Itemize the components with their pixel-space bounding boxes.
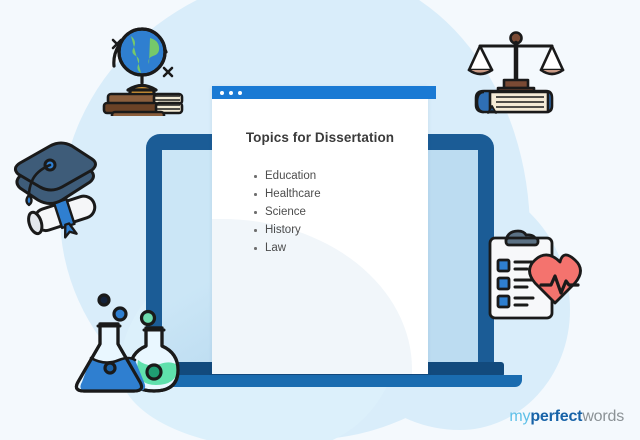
list-item: Education — [253, 167, 321, 185]
topics-list: Education Healthcare Science History Law — [253, 167, 321, 257]
list-item: Healthcare — [253, 185, 321, 203]
document-window[interactable]: Topics for Dissertation Education Health… — [212, 86, 428, 374]
window-dot-maximize-icon[interactable] — [238, 91, 242, 95]
list-item: History — [253, 221, 321, 239]
poster-canvas: Topics for Dissertation Education Health… — [0, 0, 640, 440]
scales-of-justice-icon — [462, 18, 570, 123]
logo-part-my: my — [509, 408, 530, 425]
medical-clipboard-heart-icon — [484, 226, 590, 331]
logo-part-perfect: perfect — [530, 408, 582, 425]
list-item: Science — [253, 203, 321, 221]
list-item: Law — [253, 239, 321, 257]
science-flasks-icon — [66, 284, 190, 407]
globe-on-books-icon — [88, 12, 192, 121]
window-dot-close-icon[interactable] — [220, 91, 224, 95]
brand-logo: myperfectwords — [509, 408, 624, 426]
page-title: Topics for Dissertation — [212, 130, 428, 145]
document-body: Topics for Dissertation Education Health… — [212, 99, 428, 374]
graduation-cap-diploma-icon — [6, 136, 116, 249]
logo-part-words: words — [582, 408, 624, 425]
window-titlebar[interactable] — [212, 86, 436, 99]
window-dot-minimize-icon[interactable] — [229, 91, 233, 95]
